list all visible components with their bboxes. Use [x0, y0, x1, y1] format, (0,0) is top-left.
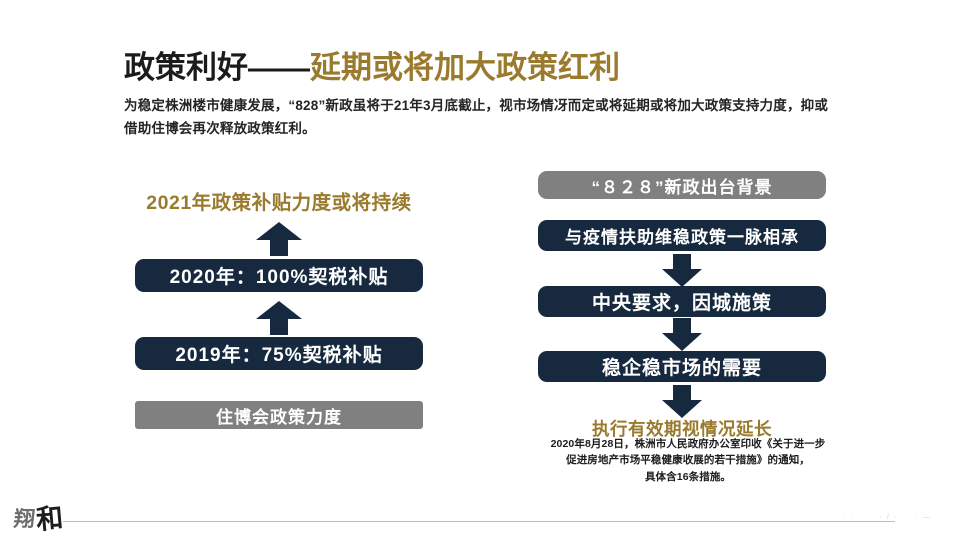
page-title: 政策利好——延期或将加大政策红利 [124, 50, 884, 87]
left-box-2019-label: 2019年：75%契税补贴 [175, 340, 382, 367]
right-box-central-requirement[interactable]: 中央要求，因城施策 [538, 286, 826, 317]
footer-divider [63, 521, 895, 522]
arrow-stem [673, 318, 691, 334]
page-title-black-part: 政策利好—— [124, 50, 310, 85]
footer-faint-note: · · · · · · · / · · · · — [836, 514, 931, 521]
right-box-epidemic-policy[interactable]: 与疫情扶助维稳政策一脉相承 [538, 220, 826, 251]
right-box-background-title-label: “８２８”新政出台背景 [592, 173, 773, 198]
right-box-market-stability-label: 稳企稳市场的需要 [602, 353, 762, 380]
arrow-up-icon [256, 301, 302, 335]
right-box-market-stability[interactable]: 稳企稳市场的需要 [538, 351, 826, 382]
right-box-central-requirement-label: 中央要求，因城施策 [592, 288, 772, 315]
right-conclusion-note: 2020年8月28日，株洲市人民政府办公室印收《关于进一步 促进房地产市场平稳健… [538, 436, 838, 485]
left-box-2019-subsidy[interactable]: 2019年：75%契税补贴 [135, 337, 423, 370]
left-box-housing-expo[interactable]: 住博会政策力度 [135, 401, 423, 429]
arrow-head [662, 269, 702, 287]
arrow-down-icon [662, 385, 702, 418]
arrow-down-icon [662, 318, 702, 351]
right-box-epidemic-policy-label: 与疫情扶助维稳政策一脉相承 [565, 223, 799, 248]
page-subtitle: 为稳定株洲楼市健康发展，“828”新政虽将于21年3月底截止，视市场情冴而定或将… [124, 94, 840, 140]
left-box-housing-expo-label: 住博会政策力度 [216, 403, 342, 428]
brand-logo-char-1: 翔 [12, 503, 36, 533]
arrow-stem [270, 239, 288, 256]
arrow-head [662, 333, 702, 351]
right-conclusion-note-line-3: 具体含16条措施。 [538, 469, 838, 485]
arrow-stem [673, 385, 691, 401]
left-column-heading: 2021年政策补贴力度或将持续 [135, 186, 423, 215]
left-box-2020-label: 2020年：100%契税补贴 [170, 262, 389, 289]
brand-logo-char-2: 和 [34, 496, 64, 537]
arrow-down-icon [662, 254, 702, 287]
brand-logo: 翔 和 [14, 497, 76, 531]
arrow-stem [673, 254, 691, 270]
right-conclusion-note-line-1: 2020年8月28日，株洲市人民政府办公室印收《关于进一步 [538, 436, 838, 452]
page-title-gold-part: 延期或将加大政策红利 [310, 50, 620, 85]
slide-header: 政策利好——延期或将加大政策红利 为稳定株洲楼市健康发展，“828”新政虽将于2… [124, 50, 884, 140]
arrow-head [256, 301, 302, 319]
arrow-up-icon [256, 222, 302, 256]
left-box-2020-subsidy[interactable]: 2020年：100%契税补贴 [135, 259, 423, 292]
arrow-stem [270, 318, 288, 335]
arrow-head [256, 222, 302, 240]
right-box-background-title[interactable]: “８２８”新政出台背景 [538, 171, 826, 199]
slide-root: 政策利好——延期或将加大政策红利 为稳定株洲楼市健康发展，“828”新政虽将于2… [0, 0, 960, 540]
right-conclusion-note-line-2: 促进房地产市场平稳健康收展的若干措施》的通知， [538, 452, 838, 468]
